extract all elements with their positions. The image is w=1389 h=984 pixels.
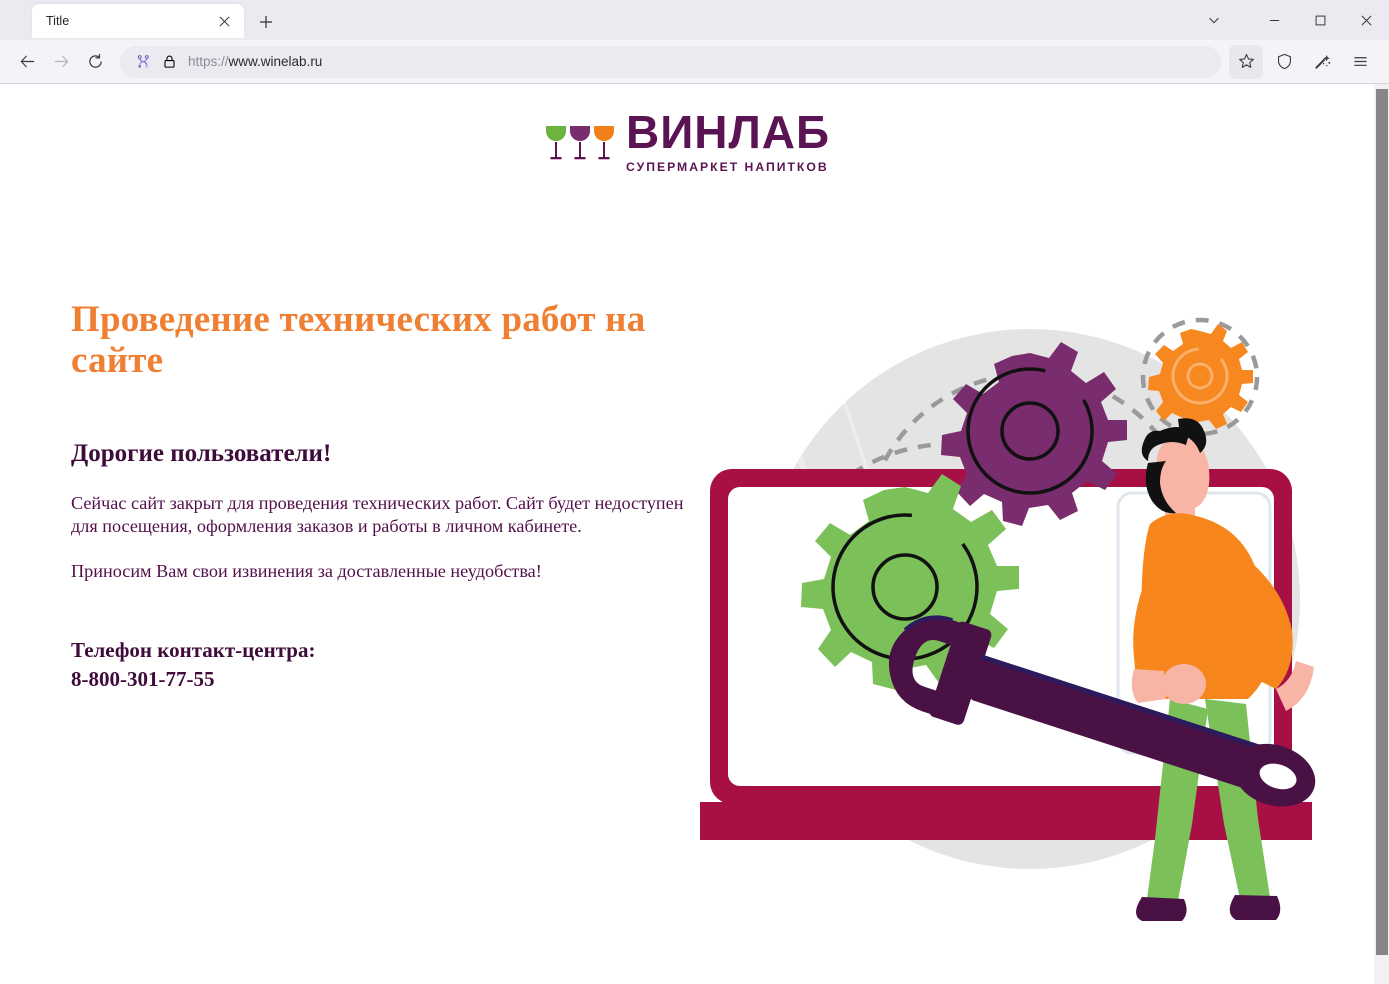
logo-tagline: СУПЕРМАРКЕТ НАПИТКОВ (626, 160, 830, 174)
window-controls (1189, 0, 1389, 40)
lock-icon[interactable] (156, 49, 182, 75)
browser-tab[interactable]: Title (32, 4, 244, 38)
contact-label: Телефон контакт-центра: (71, 636, 700, 665)
illustration-column (700, 279, 1340, 929)
notice-paragraph-2: Приносим Вам свои извинения за доставлен… (71, 560, 700, 584)
star-icon[interactable] (1229, 45, 1263, 79)
text-column: Проведение технических работ на сайте До… (0, 174, 700, 694)
arrow-right-icon[interactable] (44, 45, 78, 79)
page-title: Проведение технических работ на сайте (71, 299, 700, 382)
minimize-icon[interactable] (1251, 0, 1297, 40)
magic-wand-icon[interactable] (1305, 45, 1339, 79)
contact-phone[interactable]: 8-800-301-77-55 (71, 665, 700, 694)
url-host: www.winelab.ru (229, 54, 323, 69)
reload-icon[interactable] (78, 45, 112, 79)
wine-glasses-icon (544, 120, 616, 168)
logo-name: ВИНЛАБ (626, 111, 830, 155)
site-header: ВИНЛАБ СУПЕРМАРКЕТ НАПИТКОВ (0, 84, 1374, 174)
close-icon[interactable] (1343, 0, 1389, 40)
shield-icon[interactable] (1267, 45, 1301, 79)
browser-toolbar: https://www.winelab.ru (0, 40, 1389, 84)
browser-title-bar: Title (0, 0, 1389, 40)
chevron-down-icon[interactable] (1189, 0, 1239, 40)
maximize-icon[interactable] (1297, 0, 1343, 40)
site-logo[interactable]: ВИНЛАБ СУПЕРМАРКЕТ НАПИТКОВ (544, 111, 830, 174)
contact-block: Телефон контакт-центра: 8-800-301-77-55 (71, 636, 700, 694)
address-bar[interactable]: https://www.winelab.ru (120, 46, 1221, 78)
url-text: https://www.winelab.ru (188, 54, 322, 69)
tab-title: Title (46, 14, 214, 28)
toolbar-actions (1227, 45, 1379, 79)
page-scrollbar[interactable] (1374, 84, 1389, 984)
browser-window: Title (0, 0, 1389, 984)
web-page: ВИНЛАБ СУПЕРМАРКЕТ НАПИТКОВ Проведение т… (0, 84, 1374, 984)
hamburger-menu-icon[interactable] (1343, 45, 1377, 79)
gear-orange (1148, 324, 1253, 433)
page-viewport: ВИНЛАБ СУПЕРМАРКЕТ НАПИТКОВ Проведение т… (0, 84, 1389, 984)
page-content: Проведение технических работ на сайте До… (0, 174, 1374, 694)
arrow-left-icon[interactable] (10, 45, 44, 79)
tracking-prevention-icon[interactable] (130, 49, 156, 75)
maintenance-illustration (700, 279, 1340, 929)
notice-paragraph-1: Сейчас сайт закрыт для проведения технич… (71, 492, 700, 539)
close-icon[interactable] (214, 11, 234, 31)
scrollbar-thumb[interactable] (1376, 89, 1388, 955)
plus-icon[interactable] (252, 8, 280, 36)
url-scheme: https:// (188, 54, 229, 69)
subheading: Дорогие пользователи! (71, 440, 700, 468)
